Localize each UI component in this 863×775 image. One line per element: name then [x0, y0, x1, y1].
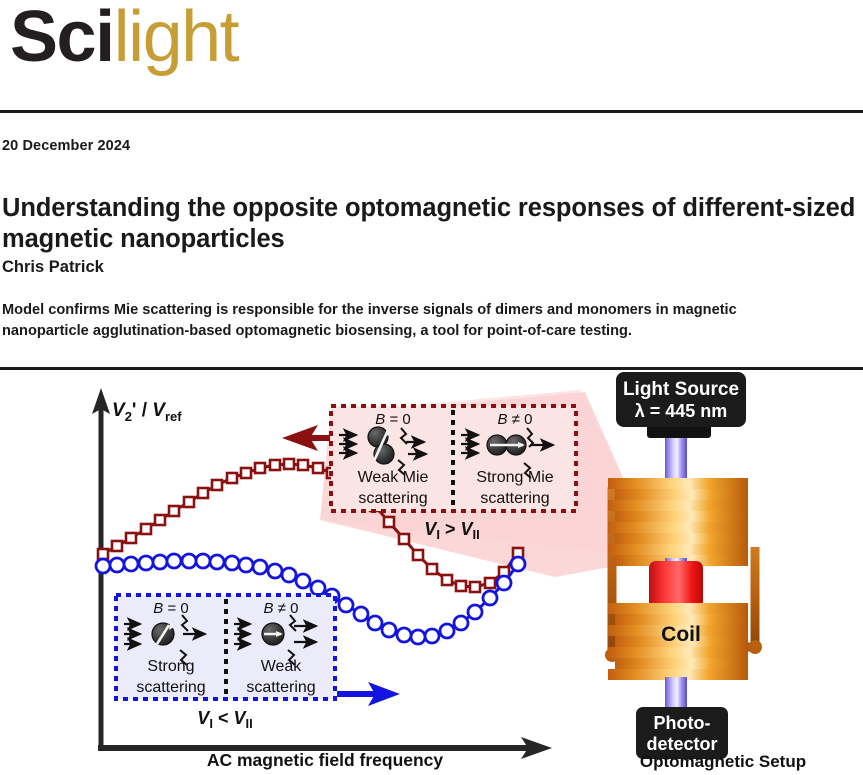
photodetector-line1: Photo- [654, 713, 711, 733]
article-summary: Model confirms Mie scattering is respons… [2, 300, 802, 342]
x-axis-caption: AC magnetic field frequency [90, 750, 560, 771]
nanoparticle-monomer-aligned [262, 623, 284, 645]
light-source-line1: Light Source [623, 379, 739, 400]
inset-top-right-line1: Strong Mie [476, 469, 553, 486]
inset-bottom-right-line2: scattering [246, 679, 315, 696]
scilight-article-page: Scilight 20 December 2024 Understanding … [0, 0, 863, 775]
optomagnetic-setup: Coil Light Source λ = 445 nm Photo- dete… [605, 372, 762, 759]
light-source-box[interactable]: Light Source λ = 445 nm [616, 372, 746, 438]
page-title: Understanding the opposite optomagnetic … [2, 193, 860, 255]
header-divider [0, 110, 863, 113]
annotation-arrow-red [282, 425, 330, 451]
inset-top-left-line2: scattering [358, 490, 427, 507]
inset-top-left-line1: Weak Mie [358, 469, 429, 486]
scilight-logo[interactable]: Scilight [10, 0, 238, 79]
inset-bottom-left-line1: Strong [147, 658, 194, 675]
figure-divider [0, 367, 863, 370]
inset-bottom-left-condition: B = 0 [153, 600, 188, 617]
sample-cuvette [649, 561, 703, 609]
y-axis-label: V2' / Vref [112, 400, 182, 424]
coil-label: Coil [661, 623, 701, 646]
publication-date: 20 December 2024 [2, 138, 130, 154]
photodetector-line2: detector [646, 734, 717, 754]
inset-top-left-condition: B = 0 [375, 411, 410, 428]
inset-monomers: B = 0 Strong scattering [116, 595, 335, 731]
logo-text-sci: Sci [10, 0, 114, 77]
logo-text-light: light [114, 0, 239, 77]
annotation-arrow-blue [337, 682, 400, 706]
inset-top-right-line2: scattering [480, 490, 549, 507]
coil-upper [608, 478, 748, 566]
figure-optomagnetic: V2' / Vref [0, 372, 863, 775]
inset-bottom-left-line2: scattering [136, 679, 205, 696]
inset-bottom-relation: VI < VII [197, 708, 252, 731]
setup-caption: Optomagnetic Setup [588, 752, 858, 772]
inset-top-right-condition: B ≠ 0 [498, 411, 533, 428]
author-byline: Chris Patrick [2, 258, 104, 277]
nanoparticle-monomer-random [152, 623, 174, 645]
inset-bottom-right-condition: B ≠ 0 [264, 600, 299, 617]
inset-top-relation: VI > VII [424, 519, 479, 542]
light-source-line2: λ = 445 nm [635, 401, 728, 421]
inset-bottom-right-line1: Weak [261, 658, 303, 675]
